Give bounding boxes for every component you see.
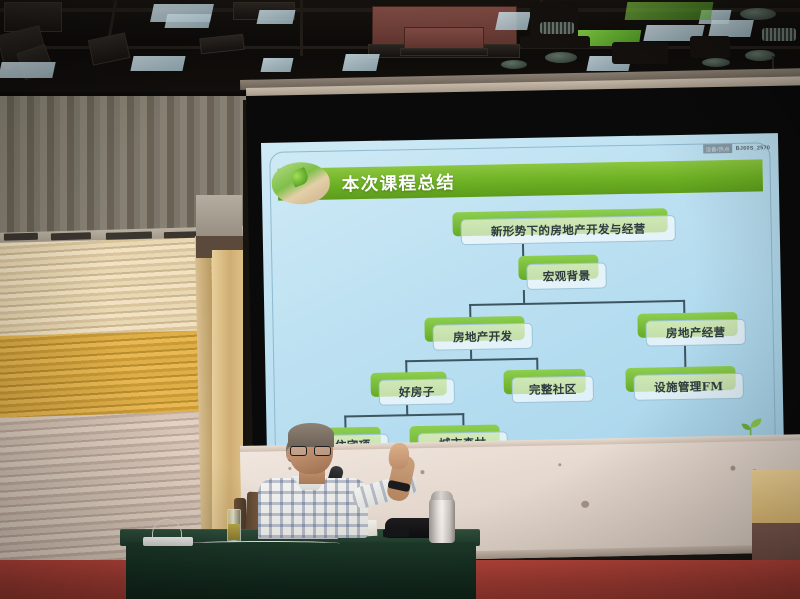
ceiling-speaker: [520, 36, 590, 48]
node-label: 完整社区: [529, 383, 577, 397]
glasses-icon: [290, 446, 332, 456]
node-label: 新形势下的房地产开发与经营: [491, 222, 646, 238]
diagram-node-n4[interactable]: 好房子: [379, 378, 455, 405]
projected-light-panel: [130, 56, 185, 71]
node-label: 房地产开发: [453, 330, 513, 344]
edge-n1-down: [523, 290, 525, 304]
wood-slat-wall-upper: [0, 237, 219, 343]
diagram-node-n0[interactable]: 新形势下的房地产开发与经营: [460, 215, 675, 245]
device-stand: [143, 537, 193, 546]
cable: [190, 541, 340, 546]
stage-light: [400, 48, 488, 56]
projected-light-panel: [261, 58, 294, 72]
projected-light-panel: [257, 10, 296, 24]
light-disc: [501, 60, 527, 69]
presenter-hair: [288, 423, 334, 447]
speaker-grille: [762, 28, 796, 41]
node-label: 好房子: [399, 385, 435, 399]
thermos-cap: [431, 491, 453, 500]
watermark-value: BJ60S_2570: [736, 145, 771, 152]
wood-slat-wall-gold: [0, 330, 218, 422]
phone[interactable]: [383, 529, 409, 538]
stage-light: [88, 32, 131, 65]
projected-light-panel: [342, 54, 380, 71]
diagram-node-n6[interactable]: 设施管理FM: [634, 373, 744, 401]
slide-title: 本次课程总结: [342, 164, 643, 200]
diagram-node-n1[interactable]: 宏观背景: [526, 262, 606, 290]
diagram-node-n2[interactable]: 房地产开发: [433, 323, 533, 351]
node-label: 房地产经营: [666, 326, 726, 340]
speaker-grille: [540, 22, 574, 34]
projected-light-panel: [165, 14, 212, 28]
stage-light-red: [404, 27, 484, 50]
ceiling-speaker: [612, 42, 668, 64]
light-disc: [702, 58, 730, 67]
light-disc: [745, 50, 775, 61]
light-disc: [545, 52, 577, 63]
diagram-node-n5[interactable]: 完整社区: [512, 376, 594, 404]
table-cloth: [126, 542, 476, 599]
node-label: 设施管理FM: [654, 380, 724, 394]
thermos: [429, 495, 455, 543]
node-label: 宏观背景: [543, 269, 591, 283]
ceiling-speaker: [690, 36, 730, 58]
projected-light-green: [625, 2, 714, 20]
stage-light: [199, 34, 244, 55]
projected-light-panel: [708, 20, 754, 37]
diagram-node-n3[interactable]: 房地产经营: [645, 319, 745, 347]
light-disc: [740, 8, 776, 20]
watermark-key: 设备/热点: [704, 144, 732, 154]
lecture-hall-photo: 本次课程总结 设备/热点 BJ60S_2570 新形势下的房地: [0, 0, 800, 599]
tea-liquid: [228, 524, 240, 540]
device-watermark: 设备/热点 BJ60S_2570: [704, 143, 771, 153]
wall-panel-cream: [752, 470, 800, 525]
presentation-slide: 本次课程总结 设备/热点 BJ60S_2570 新形势下的房地: [261, 133, 784, 464]
projected-light-panel: [0, 62, 56, 78]
projected-light-panel: [495, 12, 531, 30]
